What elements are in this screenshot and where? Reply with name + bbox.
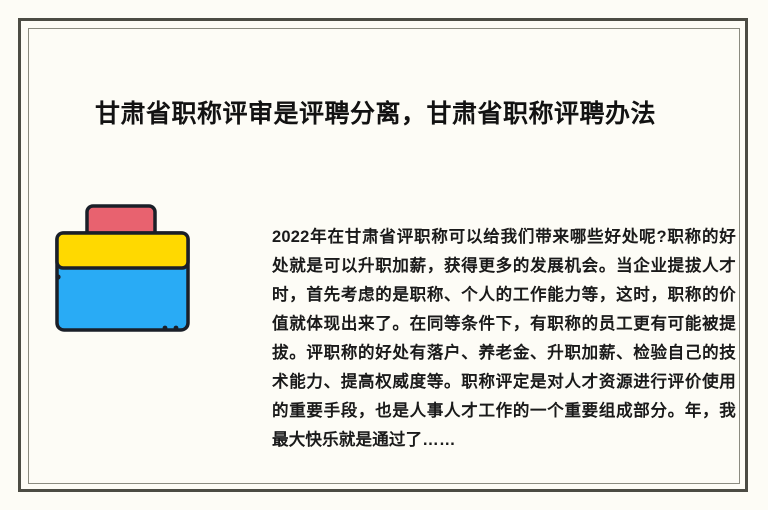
- briefcase-dot-left-icon: [55, 274, 60, 279]
- briefcase-dot-bottom-a-icon: [163, 326, 168, 331]
- page-title: 甘肃省职称评审是评聘分离，甘肃省职称评聘办法: [95, 97, 695, 131]
- briefcase-illustration: [45, 195, 205, 345]
- briefcase-dot-bottom-b-icon: [174, 326, 179, 331]
- briefcase-band-icon: [57, 233, 188, 268]
- article-body: 2022年在甘肃省评职称可以给我们带来哪些好处呢?职称的好处就是可以升职加薪，获…: [272, 223, 736, 455]
- page-root: 甘肃省职称评审是评聘分离，甘肃省职称评聘办法 2022年在甘肃省评职称可以给我们…: [0, 0, 768, 510]
